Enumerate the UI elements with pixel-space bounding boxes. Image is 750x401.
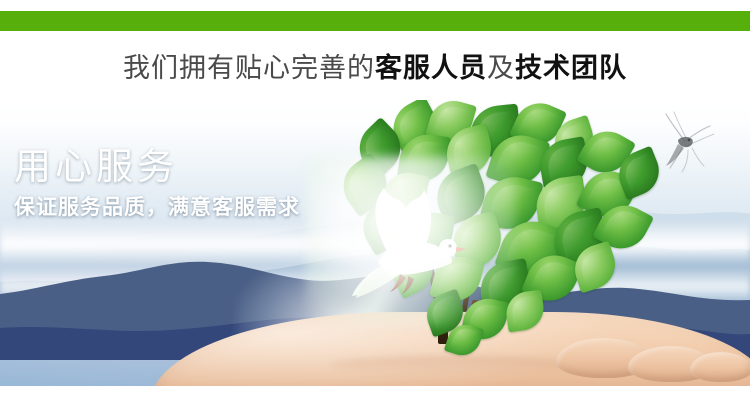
scene-artwork: [0, 100, 750, 386]
headline: 我们拥有贴心完善的客服人员及技术团队: [0, 52, 750, 86]
dove-glow: [306, 156, 516, 326]
finger-3: [690, 352, 750, 382]
ink-wash-bird-icon: [648, 108, 722, 176]
headline-segment-4: 技术团队: [515, 53, 627, 84]
white-dove: [330, 178, 500, 308]
overlay-title: 用心服务: [14, 145, 300, 189]
overlay-copy-block: 用心服务 保证服务品质，满意客服需求: [14, 145, 300, 220]
top-green-divider: [0, 11, 750, 31]
hand-crease: [330, 356, 580, 374]
bottom-white-trim: [0, 386, 750, 401]
headline-segment-1: 我们拥有贴心完善的: [123, 53, 375, 84]
overlay-subtitle: 保证服务品质，满意客服需求: [14, 194, 300, 220]
service-promo-banner: 我们拥有贴心完善的客服人员及技术团队: [0, 0, 750, 401]
headline-segment-3: 及: [487, 53, 515, 84]
headline-segment-2: 客服人员: [375, 53, 487, 84]
